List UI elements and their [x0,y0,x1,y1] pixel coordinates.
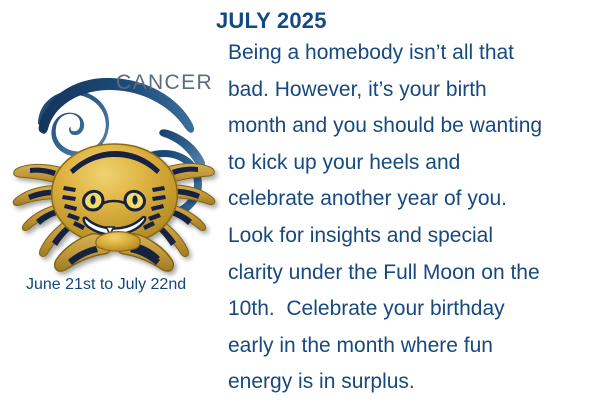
horoscope-panel: JULY 2025 Being a homebody isn’t all tha… [212,0,600,400]
horoscope-body-text: Being a homebody isn’t all that bad. How… [228,35,600,401]
zodiac-panel: CANCER June 21st to July 22nd [0,0,222,400]
horoscope-line: Look for insights and special [228,218,600,255]
horoscope-title: JULY 2025 [216,8,327,33]
horoscope-card: CANCER June 21st to July 22nd JULY 2025 … [0,0,600,400]
horoscope-line: celebrate another year of you. [228,181,600,218]
horoscope-line: energy is in surplus. [228,364,600,401]
horoscope-line: 10th. Celebrate your birthday [228,291,600,328]
horoscope-line: Being a homebody isn’t all that [228,35,600,72]
zodiac-date-range: June 21st to July 22nd [26,277,186,293]
horoscope-line: clarity under the Full Moon on the [228,255,600,292]
horoscope-line: month and you should be wanting [228,108,600,145]
horoscope-line: to kick up your heels and [228,145,600,182]
horoscope-line: bad. However, it’s your birth [228,72,600,109]
zodiac-sign-label: CANCER [116,72,213,93]
horoscope-line: early in the month where fun [228,328,600,365]
